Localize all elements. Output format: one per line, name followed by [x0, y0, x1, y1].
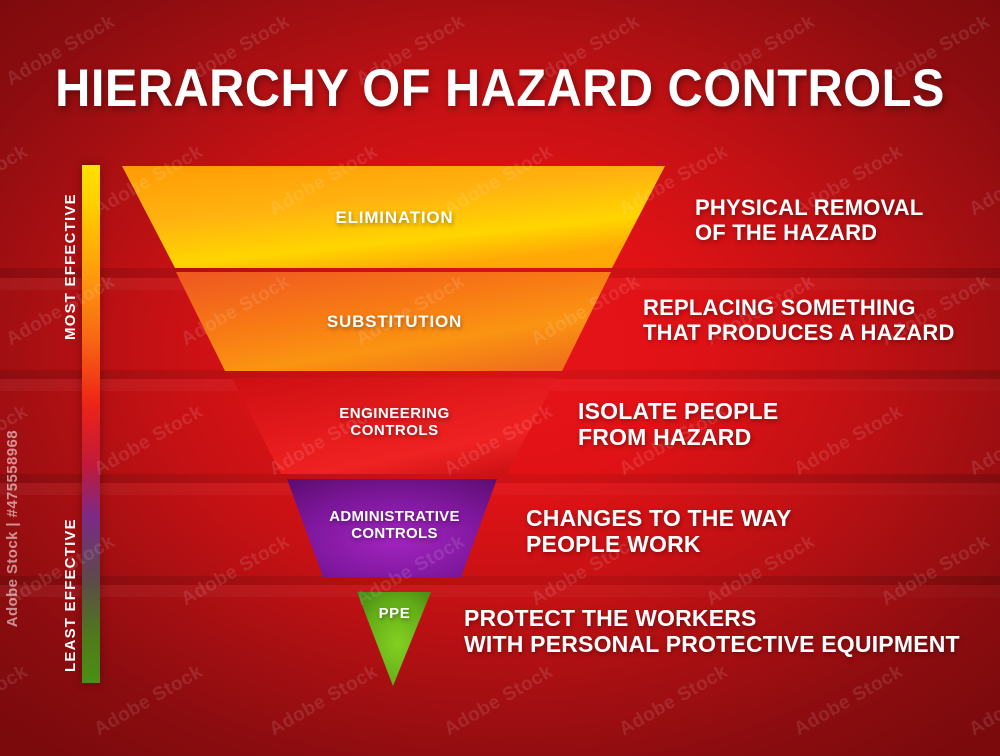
description-elimination: PHYSICAL REMOVAL OF THE HAZARD: [695, 196, 924, 246]
description-administrative-controls: CHANGES TO THE WAY PEOPLE WORK: [526, 505, 792, 557]
funnel-layer-engineering-controls[interactable]: [232, 378, 556, 474]
description-engineering-controls: ISOLATE PEOPLE FROM HAZARD: [578, 398, 778, 450]
effectiveness-gauge: [82, 165, 100, 683]
funnel-layer-ppe[interactable]: [357, 592, 431, 686]
gauge-label-least-effective: LEAST EFFECTIVE: [62, 518, 79, 672]
infographic-canvas: ELIMINATION SUBSTITUTION ENGINEERING CON…: [0, 0, 1000, 756]
description-ppe: PROTECT THE WORKERS WITH PERSONAL PROTEC…: [464, 605, 960, 657]
funnel-layer-administrative-controls[interactable]: [287, 479, 497, 577]
page-title: HIERARCHY OF HAZARD CONTROLS: [40, 58, 960, 119]
description-substitution: REPLACING SOMETHING THAT PRODUCES A HAZA…: [643, 296, 955, 346]
gauge-label-most-effective: MOST EFFECTIVE: [62, 193, 79, 340]
funnel-layer-elimination[interactable]: [122, 166, 665, 268]
stock-credit-label: Adobe Stock | #475558968: [4, 430, 21, 627]
funnel-layer-substitution[interactable]: [176, 272, 611, 371]
